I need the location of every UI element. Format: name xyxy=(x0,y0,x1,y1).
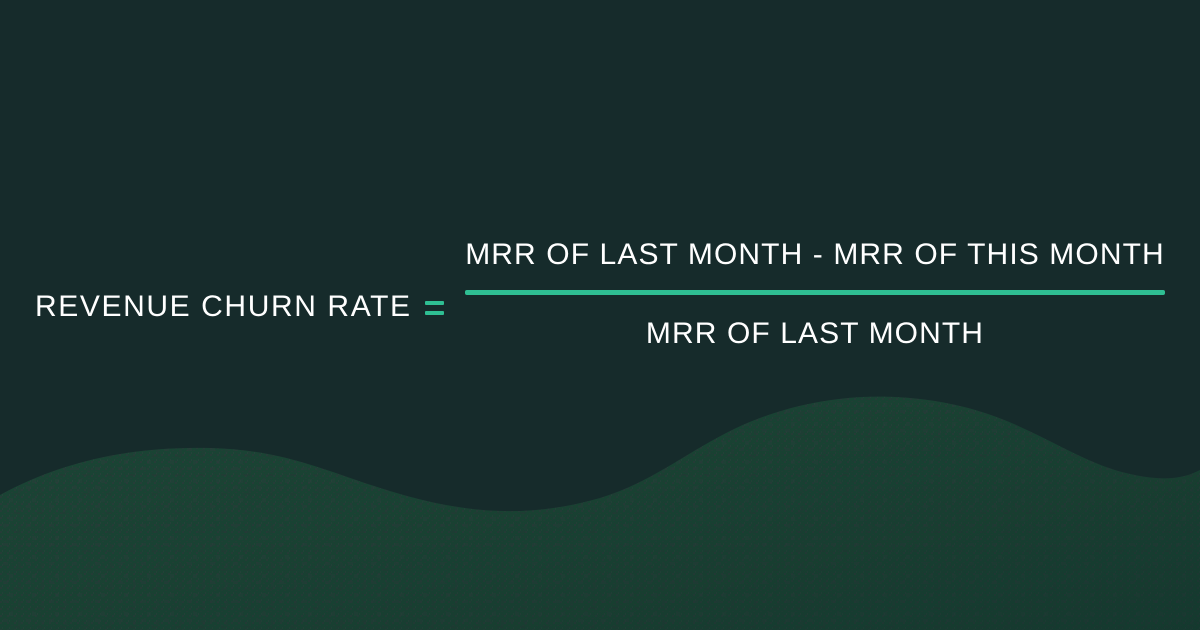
equals-lower-stroke xyxy=(425,311,444,315)
fraction-divider-bar xyxy=(465,290,1165,295)
equals-sign-icon xyxy=(425,289,449,325)
fraction-numerator: MRR OF LAST MONTH - MRR OF THIS MONTH xyxy=(465,236,1165,274)
formula-left-label: REVENUE CHURN RATE xyxy=(35,289,412,325)
infographic-canvas: REVENUE CHURN RATE MRR OF LAST MONTH - M… xyxy=(0,0,1200,630)
equals-upper-stroke xyxy=(425,301,444,305)
fraction-denominator: MRR OF LAST MONTH xyxy=(465,315,1165,353)
formula-fraction: MRR OF LAST MONTH - MRR OF THIS MONTH MR… xyxy=(465,236,1165,353)
revenue-churn-rate-formula: REVENUE CHURN RATE MRR OF LAST MONTH - M… xyxy=(0,0,1200,630)
